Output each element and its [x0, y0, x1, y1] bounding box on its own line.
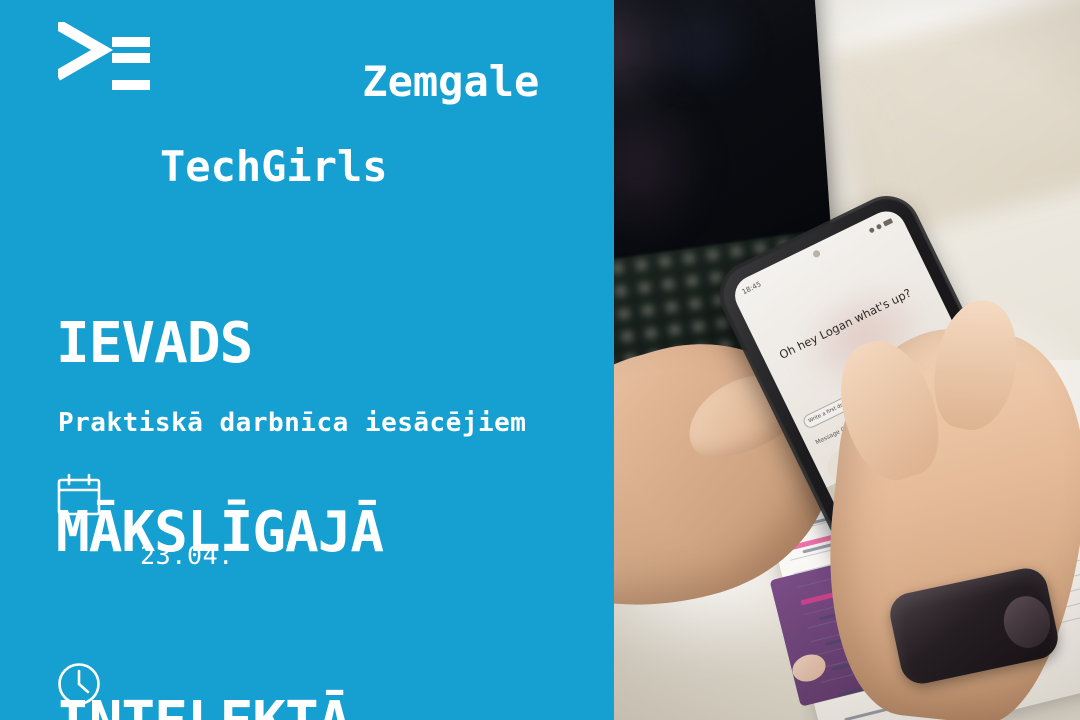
- event-poster: Zemgale TechGirls IEVADS MĀKSLĪGAJĀ INTE…: [0, 0, 1080, 720]
- subtitle: Praktiskā darbnīca iesācējiem: [58, 408, 526, 438]
- clock-icon: [56, 660, 112, 707]
- info-panel: Zemgale TechGirls IEVADS MĀKSLĪGAJĀ INTE…: [0, 0, 614, 720]
- laptop-screen-reflection-2: [614, 90, 704, 240]
- hero-photo: 18:45 Oh hey Logan what's up? Write a fi…: [614, 0, 1080, 720]
- detail-row-time: 18:00 - 20:00: [56, 660, 596, 720]
- event-details: 23.04. 18:00 - 20:00: [56, 472, 596, 720]
- detail-date-text: 23.04.: [112, 472, 297, 636]
- chevron-bars-logo-icon: [58, 22, 150, 100]
- laptop-screen-reflection-3: [644, 0, 754, 90]
- brand-name-line1: Zemgale: [362, 57, 539, 106]
- detail-row-date: 23.04.: [56, 472, 596, 636]
- brand-name-line2: TechGirls: [160, 146, 539, 189]
- page-title-line1: IEVADS: [56, 312, 383, 375]
- detail-time-text: 18:00 - 20:00: [112, 660, 343, 720]
- calendar-icon: [56, 472, 112, 519]
- detail-date-value: 23.04.: [140, 540, 297, 572]
